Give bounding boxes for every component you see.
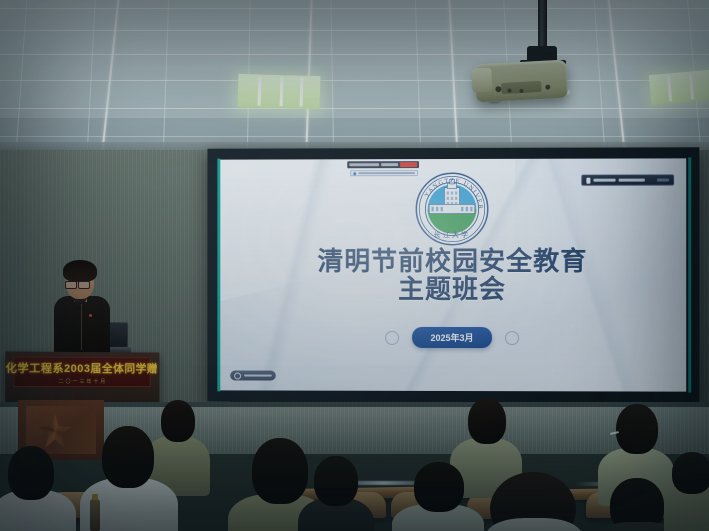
yangtze-university-seal: YANGTZE UNIVERSITY 长江大学 xyxy=(414,171,490,247)
monitor-icon xyxy=(586,177,590,183)
classroom-presentation-photo: YANGTZE UNIVERSITY 长江大学 清明节前校园安全教育 主题班会 … xyxy=(0,0,709,531)
slide-title-line1: 清明节前校园安全教育 xyxy=(317,246,587,276)
screen-edge-right xyxy=(688,157,691,392)
audience-member xyxy=(392,462,484,531)
podium-banner-line2: 二〇一三年十月 xyxy=(58,377,107,384)
ceiling-light xyxy=(238,74,321,109)
audience-member xyxy=(486,468,582,531)
slide-date-row: 2025年3月 xyxy=(220,327,686,349)
lapel-pin xyxy=(89,314,92,317)
ceiling-projector xyxy=(474,60,568,103)
podium-banner-line1: 化学工程系2003届全体同学赠 xyxy=(6,359,158,376)
podium-banner: 化学工程系2003届全体同学赠 二〇一三年十月 xyxy=(13,357,150,387)
audience-member xyxy=(0,446,76,531)
projection-screen: YANGTZE UNIVERSITY 长江大学 清明节前校园安全教育 主题班会 … xyxy=(207,147,699,402)
svg-text:长江大学: 长江大学 xyxy=(434,230,470,239)
ppt-record-button[interactable] xyxy=(400,162,417,167)
ppt-presenter-tooltip[interactable] xyxy=(581,174,674,185)
ppt-floating-toolbar[interactable] xyxy=(347,161,419,168)
slide-title: 清明节前校园安全教育 主题班会 xyxy=(220,247,686,303)
slide-date-badge: 2025年3月 xyxy=(413,327,492,348)
record-dot-icon xyxy=(234,372,241,379)
ppt-notification-bar[interactable] xyxy=(350,170,418,176)
info-icon xyxy=(353,172,356,175)
audience-member xyxy=(298,456,374,531)
ppt-status-badge[interactable] xyxy=(230,371,276,381)
water-bottle xyxy=(90,499,100,531)
decorative-ring-icon xyxy=(386,330,400,344)
presenter xyxy=(52,258,112,358)
ceiling xyxy=(0,0,709,165)
presentation-slide: YANGTZE UNIVERSITY 长江大学 清明节前校园安全教育 主题班会 … xyxy=(220,158,686,391)
ceiling-light xyxy=(649,69,709,105)
slide-title-line2: 主题班会 xyxy=(220,275,686,303)
audience-member xyxy=(664,452,709,531)
decorative-ring-icon xyxy=(505,331,519,345)
